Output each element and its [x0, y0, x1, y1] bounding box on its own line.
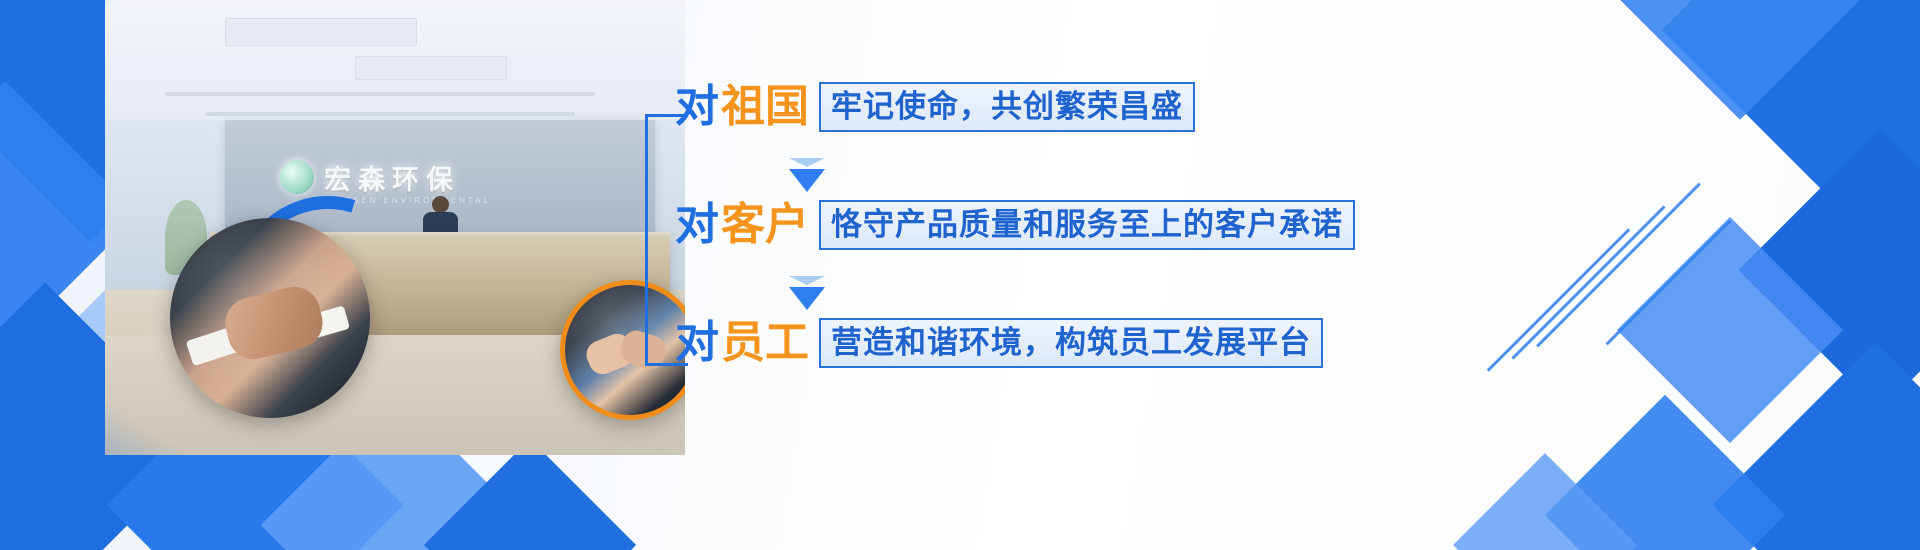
ceiling-panel — [355, 56, 507, 80]
decorative-diamond-right-7 — [1453, 453, 1637, 550]
decorative-diamond-right-4 — [1617, 217, 1843, 443]
arrow-down-icon — [785, 276, 829, 310]
ceiling-light-strip — [205, 112, 575, 116]
commitment-lead-employee: 对员工 — [675, 321, 809, 365]
corporate-culture-banner: 宏森环保 HONGSEN ENVIRONMENTAL — [0, 0, 1920, 550]
arrow-main-triangle — [789, 169, 825, 192]
commitments-block: 对祖国 牢记使命，共创繁荣昌盛 对客户 恪守产品质量和服务至上的客户承诺 对员工… — [645, 70, 1385, 400]
decorative-diamond-right-5 — [1712, 342, 1920, 550]
decorative-stroke-2 — [1511, 205, 1665, 359]
decorative-diamond-right-2 — [1570, 0, 1909, 120]
ceiling-panel — [225, 18, 417, 46]
staff-head — [432, 196, 449, 213]
decorative-diamond-right-6 — [1545, 395, 1785, 550]
commitment-subject: 祖国 — [721, 82, 809, 131]
commitment-prefix: 对 — [675, 82, 719, 131]
clasped-hands — [220, 281, 328, 364]
decorative-stroke-1 — [1536, 183, 1701, 348]
commitment-phrase-country: 牢记使命，共创繁荣昌盛 — [819, 82, 1195, 132]
handshake-photo — [170, 218, 370, 418]
photo-collage: 宏森环保 HONGSEN ENVIRONMENTAL — [65, 0, 685, 470]
arrow-down-icon — [785, 158, 829, 192]
commitment-row-country: 对祖国 牢记使命，共创繁荣昌盛 — [675, 82, 1195, 132]
globe-logo-icon — [280, 160, 314, 194]
company-logo-text: 宏森环保 — [324, 158, 460, 197]
arrow-top-triangle — [789, 158, 825, 167]
decorative-diamond-right-3 — [1739, 129, 1920, 412]
commitment-phrase-employee: 营造和谐环境，构筑员工发展平台 — [819, 318, 1323, 368]
decorative-diamond-right-1 — [1662, 0, 1920, 228]
decorative-stroke-4 — [1606, 220, 1732, 346]
commitment-lead-customer: 对客户 — [675, 203, 809, 247]
commitment-row-employee: 对员工 营造和谐环境，构筑员工发展平台 — [675, 318, 1323, 368]
commitment-prefix: 对 — [675, 318, 719, 367]
commitment-lead-country: 对祖国 — [675, 85, 809, 129]
commitment-subject: 员工 — [721, 318, 809, 367]
commitment-phrase-customer: 恪守产品质量和服务至上的客户承诺 — [819, 200, 1355, 250]
decorative-stroke-3 — [1487, 228, 1631, 372]
commitment-row-customer: 对客户 恪守产品质量和服务至上的客户承诺 — [675, 200, 1355, 250]
commitment-subject: 客户 — [721, 200, 809, 249]
commitment-prefix: 对 — [675, 200, 719, 249]
arrow-top-triangle — [789, 276, 825, 285]
arrow-main-triangle — [789, 287, 825, 310]
ceiling-light-strip — [165, 92, 595, 96]
